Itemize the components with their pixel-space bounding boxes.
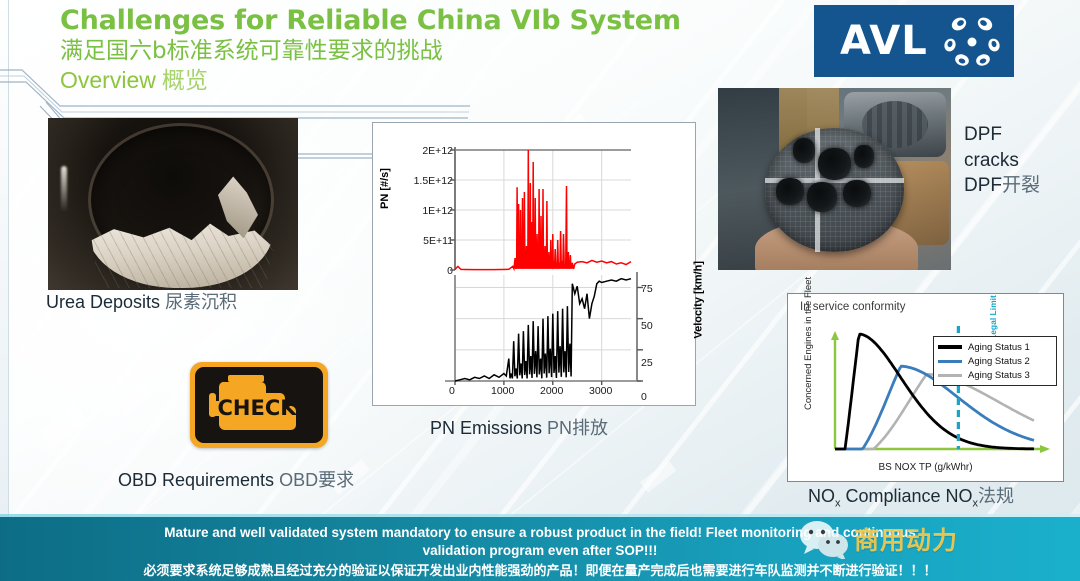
engine-block-icon: CHECK (195, 367, 323, 443)
dpf-crack (807, 182, 838, 212)
nox-chart-plot (788, 294, 1063, 481)
caption-obd-chinese: OBD要求 (279, 470, 354, 490)
dpf-crack (793, 138, 815, 163)
nox-compliance-chart: In service conformity Concerned Engines … (787, 293, 1064, 482)
dpf-crack (854, 145, 874, 167)
dpf-crack (818, 148, 852, 180)
legend-swatch-aging-2 (938, 360, 962, 363)
nox-text-2: Compliance NO (841, 486, 973, 506)
left-edge-rail (0, 0, 9, 581)
urea-deposits-photo (48, 118, 298, 290)
subtitle-english: Overview (60, 67, 156, 93)
dpf-label-line2: cracks (964, 148, 1040, 174)
check-engine-light-body: CHECK (195, 367, 323, 443)
avl-logo-text: AVL (840, 18, 928, 64)
avl-logo: AVL (814, 5, 1014, 77)
dpf-crack (776, 178, 804, 205)
subtitle-chinese: 概览 (162, 67, 208, 93)
dpf-label-block: DPF cracks DPF开裂 (964, 122, 1040, 199)
caption-obd-english: OBD Requirements (118, 470, 274, 490)
caption-obd-requirements: OBD Requirements OBD要求 (118, 466, 354, 492)
slide-title-english: Challenges for Reliable China VIb System (60, 6, 760, 36)
dpf-crack (843, 180, 871, 207)
banner-chinese: 必须要求系统足够成熟且经过充分的验证以保证开发出业内性能强劲的产品！即便在量产完… (0, 562, 1080, 580)
caption-urea-chinese: 尿素沉积 (165, 292, 237, 312)
nox-text-1: NO (808, 486, 835, 506)
legend-label-aging-3: Aging Status 3 (968, 370, 1030, 381)
legend-label-aging-1: Aging Status 1 (968, 342, 1030, 353)
pipe-highlight (61, 166, 67, 212)
bottom-banner: Mature and well validated system mandato… (0, 517, 1080, 581)
legend-item: Aging Status 3 (938, 368, 1052, 382)
check-engine-light: CHECK (190, 362, 328, 448)
nox-chart-legend: Aging Status 1 Aging Status 2 Aging Stat… (933, 336, 1057, 386)
dpf-label-line3: DPF开裂 (964, 173, 1040, 199)
slide-subtitle: Overview概览 (60, 67, 760, 95)
legend-item: Aging Status 2 (938, 354, 1052, 368)
banner-english-line1: Mature and well validated system mandato… (0, 524, 1080, 542)
slide-title-chinese: 满足国六b标准系统可靠性要求的挑战 (60, 37, 760, 65)
caption-pn-english: PN Emissions (430, 418, 542, 438)
legend-swatch-aging-1 (938, 345, 962, 349)
caption-urea-english: Urea Deposits (46, 292, 160, 312)
dpf-label-line3-cn: 开裂 (1002, 175, 1040, 196)
caption-nox-english: NOx Compliance NOx (808, 486, 978, 506)
dpf-cracks-photo (718, 88, 951, 270)
slide-canvas: Challenges for Reliable China VIb System… (0, 0, 1080, 581)
dpf-label-line1: DPF (964, 122, 1040, 148)
pn-chart-plot (373, 123, 695, 405)
caption-nox-chinese: 法规 (978, 486, 1014, 506)
caption-nox-compliance: NOx Compliance NOx法规 (808, 482, 1014, 510)
caption-urea-deposits: Urea Deposits 尿素沉积 (46, 288, 237, 314)
banner-english-line2: validation program even after SOP!!! (0, 542, 1080, 560)
caption-pn-chinese: PN排放 (547, 418, 608, 438)
legend-swatch-aging-3 (938, 374, 962, 377)
avl-petal-mark-icon (942, 12, 1002, 70)
dpf-substrate (765, 128, 905, 252)
legend-item: Aging Status 1 (938, 340, 1052, 354)
check-engine-label: CHECK (217, 396, 297, 420)
legend-label-aging-2: Aging Status 2 (968, 356, 1030, 367)
pn-emissions-chart: PN [#/s] Velocity [km/h] 2E+12 1.5E+12 1… (372, 122, 696, 406)
dpf-label-line3-en: DPF (964, 175, 1002, 196)
title-block: Challenges for Reliable China VIb System… (60, 6, 760, 95)
caption-pn-emissions: PN Emissions PN排放 (430, 414, 608, 440)
